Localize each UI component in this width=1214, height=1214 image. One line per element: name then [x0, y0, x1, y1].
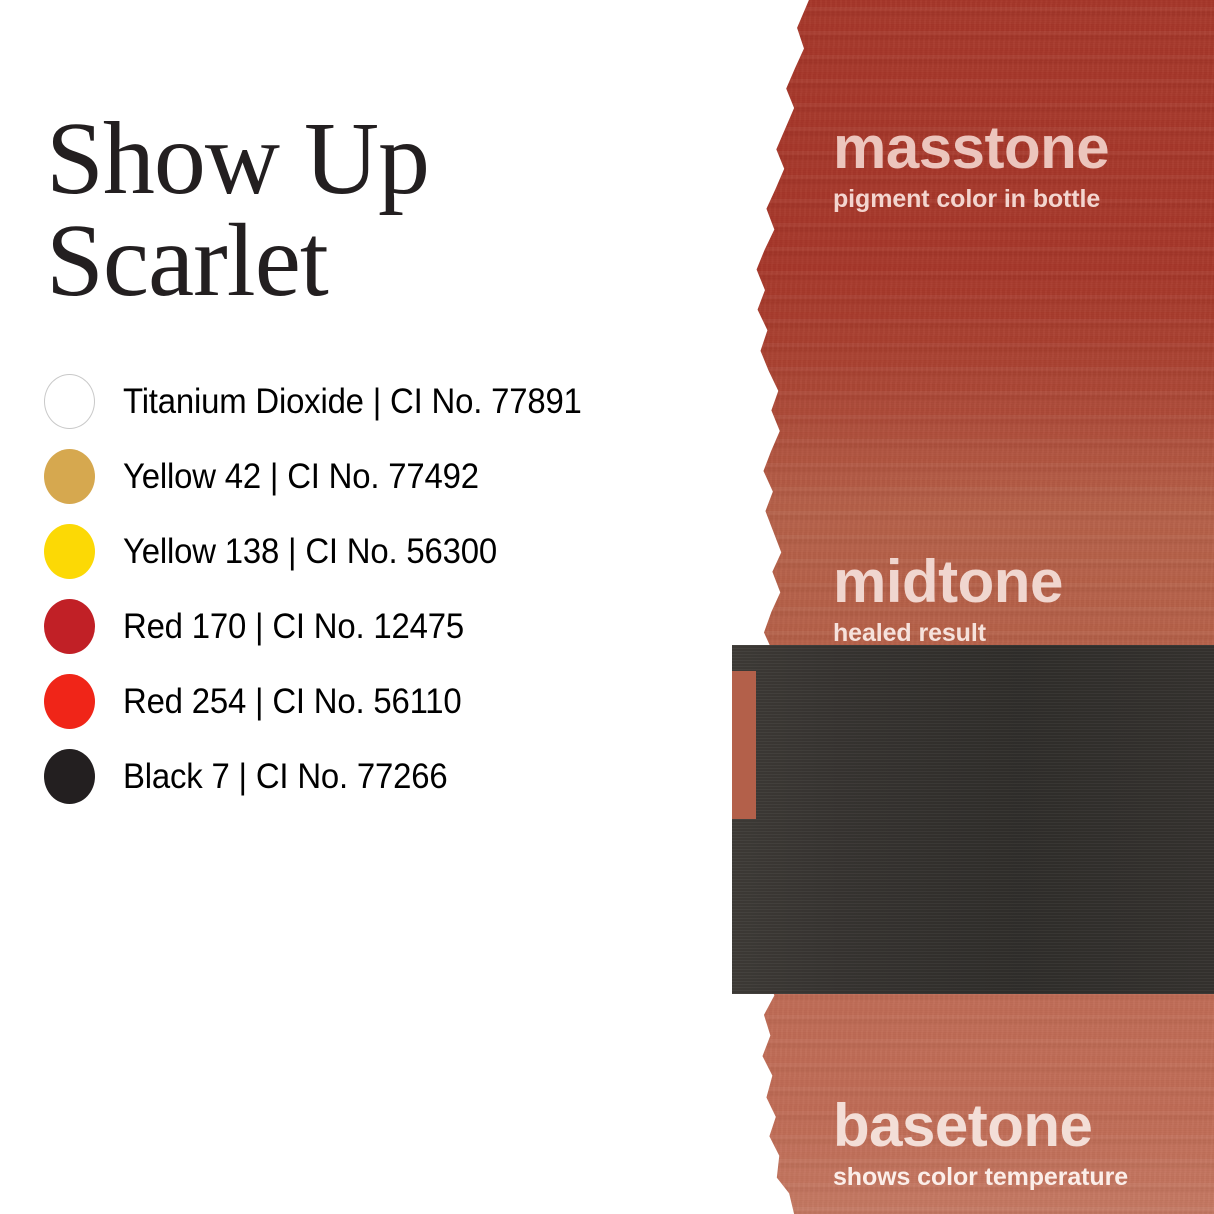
healed-block-edge-nick: [732, 671, 756, 819]
pigment-label: Red 170 | CI No. 12475: [123, 609, 464, 644]
midtone-title: midtone: [833, 552, 1063, 612]
pigment-ingredient-list: Titanium Dioxide | CI No. 77891Yellow 42…: [44, 364, 734, 814]
info-column: Show Up Scarlet Titanium Dioxide | CI No…: [0, 0, 760, 1214]
tone-label-masstone: masstone pigment color in bottle: [833, 118, 1109, 212]
pigment-label: Black 7 | CI No. 77266: [123, 759, 447, 794]
page-title: Show Up Scarlet: [46, 108, 686, 312]
basetone-subtitle: shows color temperature: [833, 1165, 1128, 1190]
title-line-1: Show Up: [46, 108, 686, 210]
pigment-color-dot: [44, 374, 95, 429]
pigment-label: Yellow 138 | CI No. 56300: [123, 534, 497, 569]
pigment-row: Yellow 138 | CI No. 56300: [44, 514, 734, 589]
pigment-label: Yellow 42 | CI No. 77492: [123, 459, 479, 494]
pigment-color-dot: [44, 749, 95, 804]
pigment-color-dot: [44, 674, 95, 729]
masstone-subtitle: pigment color in bottle: [833, 187, 1109, 212]
pigment-row: Black 7 | CI No. 77266: [44, 739, 734, 814]
pigment-row: Titanium Dioxide | CI No. 77891: [44, 364, 734, 439]
pigment-color-dot: [44, 524, 95, 579]
tone-label-basetone: basetone shows color temperature: [833, 1096, 1128, 1190]
pigment-row: Yellow 42 | CI No. 77492: [44, 439, 734, 514]
pigment-color-dot: [44, 449, 95, 504]
title-line-2: Scarlet: [46, 210, 686, 312]
pigment-color-dot: [44, 599, 95, 654]
pigment-row: Red 254 | CI No. 56110: [44, 664, 734, 739]
midtone-subtitle: healed result: [833, 621, 1063, 646]
tone-label-midtone: midtone healed result: [833, 552, 1063, 646]
pigment-card: Show Up Scarlet Titanium Dioxide | CI No…: [0, 0, 1214, 1214]
pigment-label: Titanium Dioxide | CI No. 77891: [123, 384, 582, 419]
pigment-label: Red 254 | CI No. 56110: [123, 684, 462, 719]
masstone-title: masstone: [833, 118, 1109, 178]
basetone-title: basetone: [833, 1096, 1128, 1156]
pigment-row: Red 170 | CI No. 12475: [44, 589, 734, 664]
healed-swatch-block: [732, 645, 1214, 994]
